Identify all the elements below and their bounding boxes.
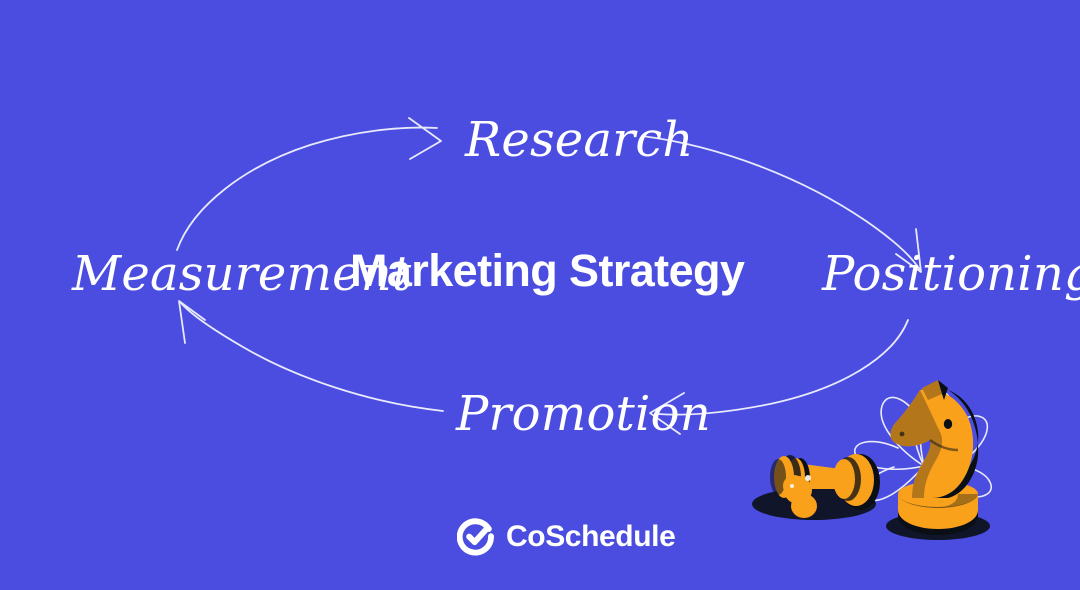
chess-knight — [891, 380, 979, 498]
coschedule-wordmark: CoSchedule — [506, 522, 675, 552]
cycle-center-title: Marketing Strategy — [350, 248, 744, 293]
cycle-label-positioning: Positioning — [822, 250, 1080, 298]
circle-check-icon — [457, 518, 495, 556]
cycle-label-promotion: Promotion — [456, 390, 711, 438]
arrow-measurement-to-research — [177, 118, 441, 250]
chess-pieces-illustration — [752, 366, 1002, 556]
diagram-canvas: Research Positioning Promotion Measureme… — [0, 0, 1080, 590]
coschedule-logo: CoSchedule — [457, 518, 675, 556]
cycle-label-research: Research — [465, 116, 694, 164]
arrow-promotion-to-measurement — [179, 301, 443, 411]
